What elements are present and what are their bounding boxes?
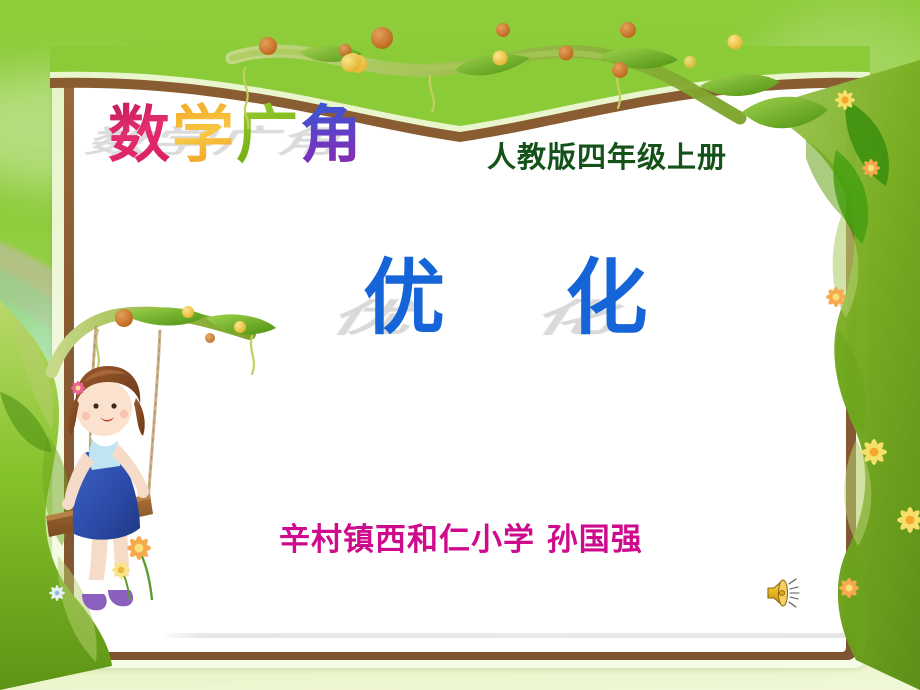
presenter-line: 辛村镇西和仁小学 孙国强 [279, 514, 643, 559]
page-bottom-rule [160, 633, 846, 638]
main-word-title: 优 化 [363, 258, 694, 340]
speaker-icon[interactable] [762, 572, 806, 614]
title-char-1: 数 [108, 98, 172, 171]
textbook-edition-subtitle: 人教版四年级上册 [487, 134, 727, 176]
title-char-3: 广 [236, 98, 300, 171]
title-char-2: 学 [172, 98, 236, 171]
presentation-slide: 数学广角 数学广角 人教版四年级上册 优 化 优 化 辛村镇西和仁小学 孙国强 [0, 0, 920, 690]
title-wordart: 数学广角 [108, 104, 364, 166]
title-char-4: 角 [300, 98, 364, 171]
